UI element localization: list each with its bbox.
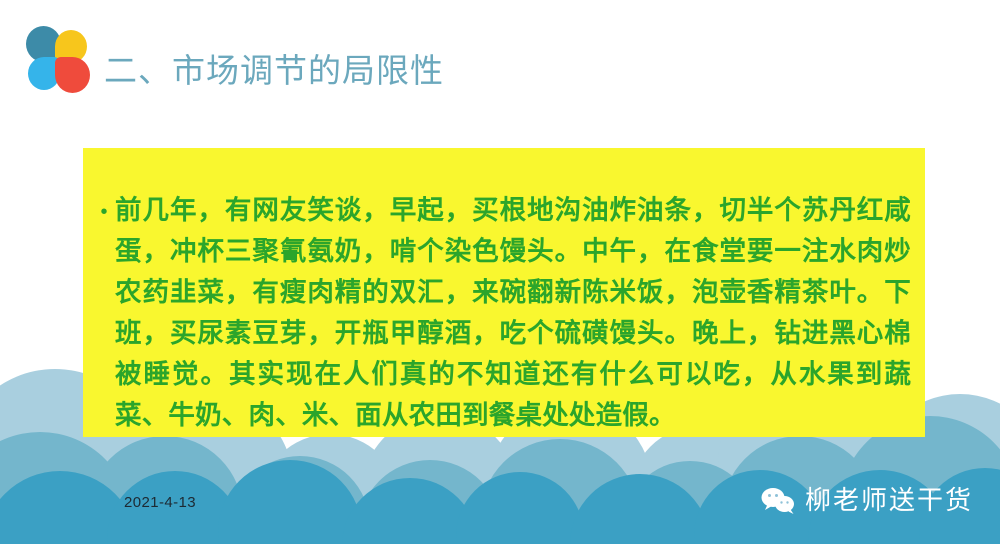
watermark: 柳老师送干货 xyxy=(760,484,973,518)
logo-petal-bottom-right xyxy=(55,57,90,93)
date-stamp: 2021-4-13 xyxy=(124,494,196,511)
page-title: 二、市场调节的局限性 xyxy=(104,49,444,93)
body-paragraph: 前几年，有网友笑谈，早起，买根地沟油炸油条，切半个苏丹红咸蛋，冲杯三聚氰氨奶，啃… xyxy=(115,190,911,436)
bullet-list-item: • 前几年，有网友笑谈，早起，买根地沟油炸油条，切半个苏丹红咸蛋，冲杯三聚氰氨奶… xyxy=(93,190,911,436)
four-petal-logo xyxy=(26,26,90,92)
wechat-icon xyxy=(760,486,796,516)
slide-canvas: 二、市场调节的局限性 • 前几年，有网友笑谈，早起，买根地沟油炸油条，切半个苏丹… xyxy=(0,0,1000,544)
content-highlight-box: • 前几年，有网友笑谈，早起，买根地沟油炸油条，切半个苏丹红咸蛋，冲杯三聚氰氨奶… xyxy=(83,148,925,437)
slide-header: 二、市场调节的局限性 xyxy=(0,0,1000,120)
bullet-point-marker: • xyxy=(93,190,115,217)
watermark-label: 柳老师送干货 xyxy=(805,484,973,518)
